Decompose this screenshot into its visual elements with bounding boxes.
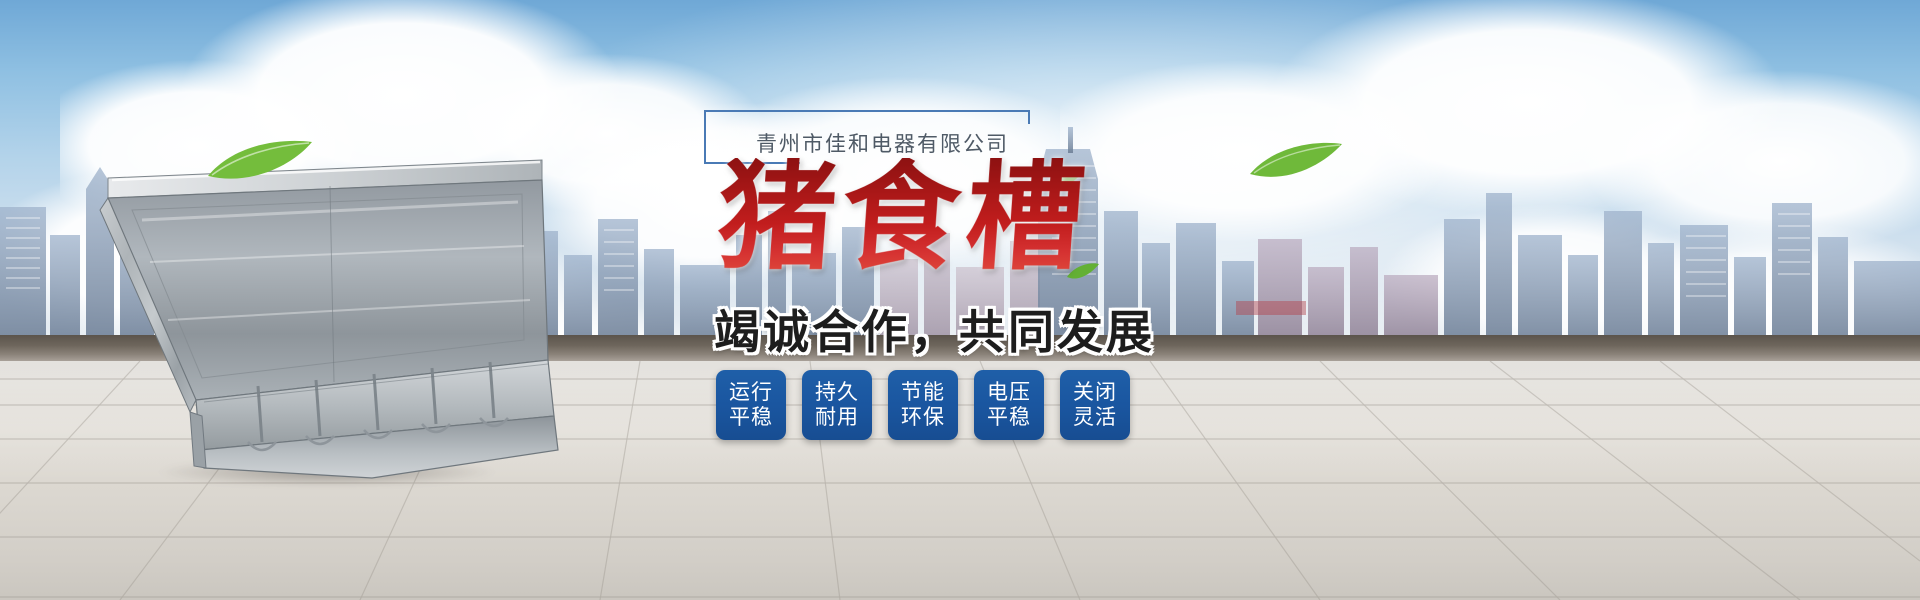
feature-badge-line1: 关闭 — [1073, 380, 1117, 405]
feature-badge-line2: 平稳 — [987, 405, 1031, 430]
feature-badge[interactable]: 持久 耐用 — [802, 370, 872, 440]
feature-badge[interactable]: 关闭 灵活 — [1060, 370, 1130, 440]
product-image-pig-feeder-trough — [72, 150, 592, 480]
feature-badge-line1: 持久 — [815, 380, 859, 405]
feature-badge-line1: 电压 — [987, 380, 1031, 405]
feature-badge-line2: 耐用 — [815, 405, 859, 430]
feature-badge-line2: 灵活 — [1073, 405, 1117, 430]
feature-badge[interactable]: 运行 平稳 — [716, 370, 786, 440]
feature-badge-line1: 运行 — [729, 380, 773, 405]
feature-badge-line2: 环保 — [901, 405, 945, 430]
feature-badge-line1: 节能 — [901, 380, 945, 405]
promo-banner: 青州市佳和电器有限公司 猪食槽 猪食槽 竭诚合作，共同发展 运行 平稳 持久 耐… — [0, 0, 1920, 600]
feature-badge[interactable]: 节能 环保 — [888, 370, 958, 440]
feature-badge-list: 运行 平稳 持久 耐用 节能 环保 电压 平稳 关闭 灵活 — [716, 370, 1130, 440]
feature-badge[interactable]: 电压 平稳 — [974, 370, 1044, 440]
main-title: 猪食槽 — [714, 158, 1094, 276]
banner-copy: 青州市佳和电器有限公司 猪食槽 猪食槽 竭诚合作，共同发展 运行 平稳 持久 耐… — [700, 100, 1340, 560]
company-name-frame-tick — [1028, 110, 1030, 124]
subtitle: 竭诚合作，共同发展 — [714, 296, 1155, 362]
leaf-icon-left — [204, 136, 316, 188]
feature-badge-line2: 平稳 — [729, 405, 773, 430]
